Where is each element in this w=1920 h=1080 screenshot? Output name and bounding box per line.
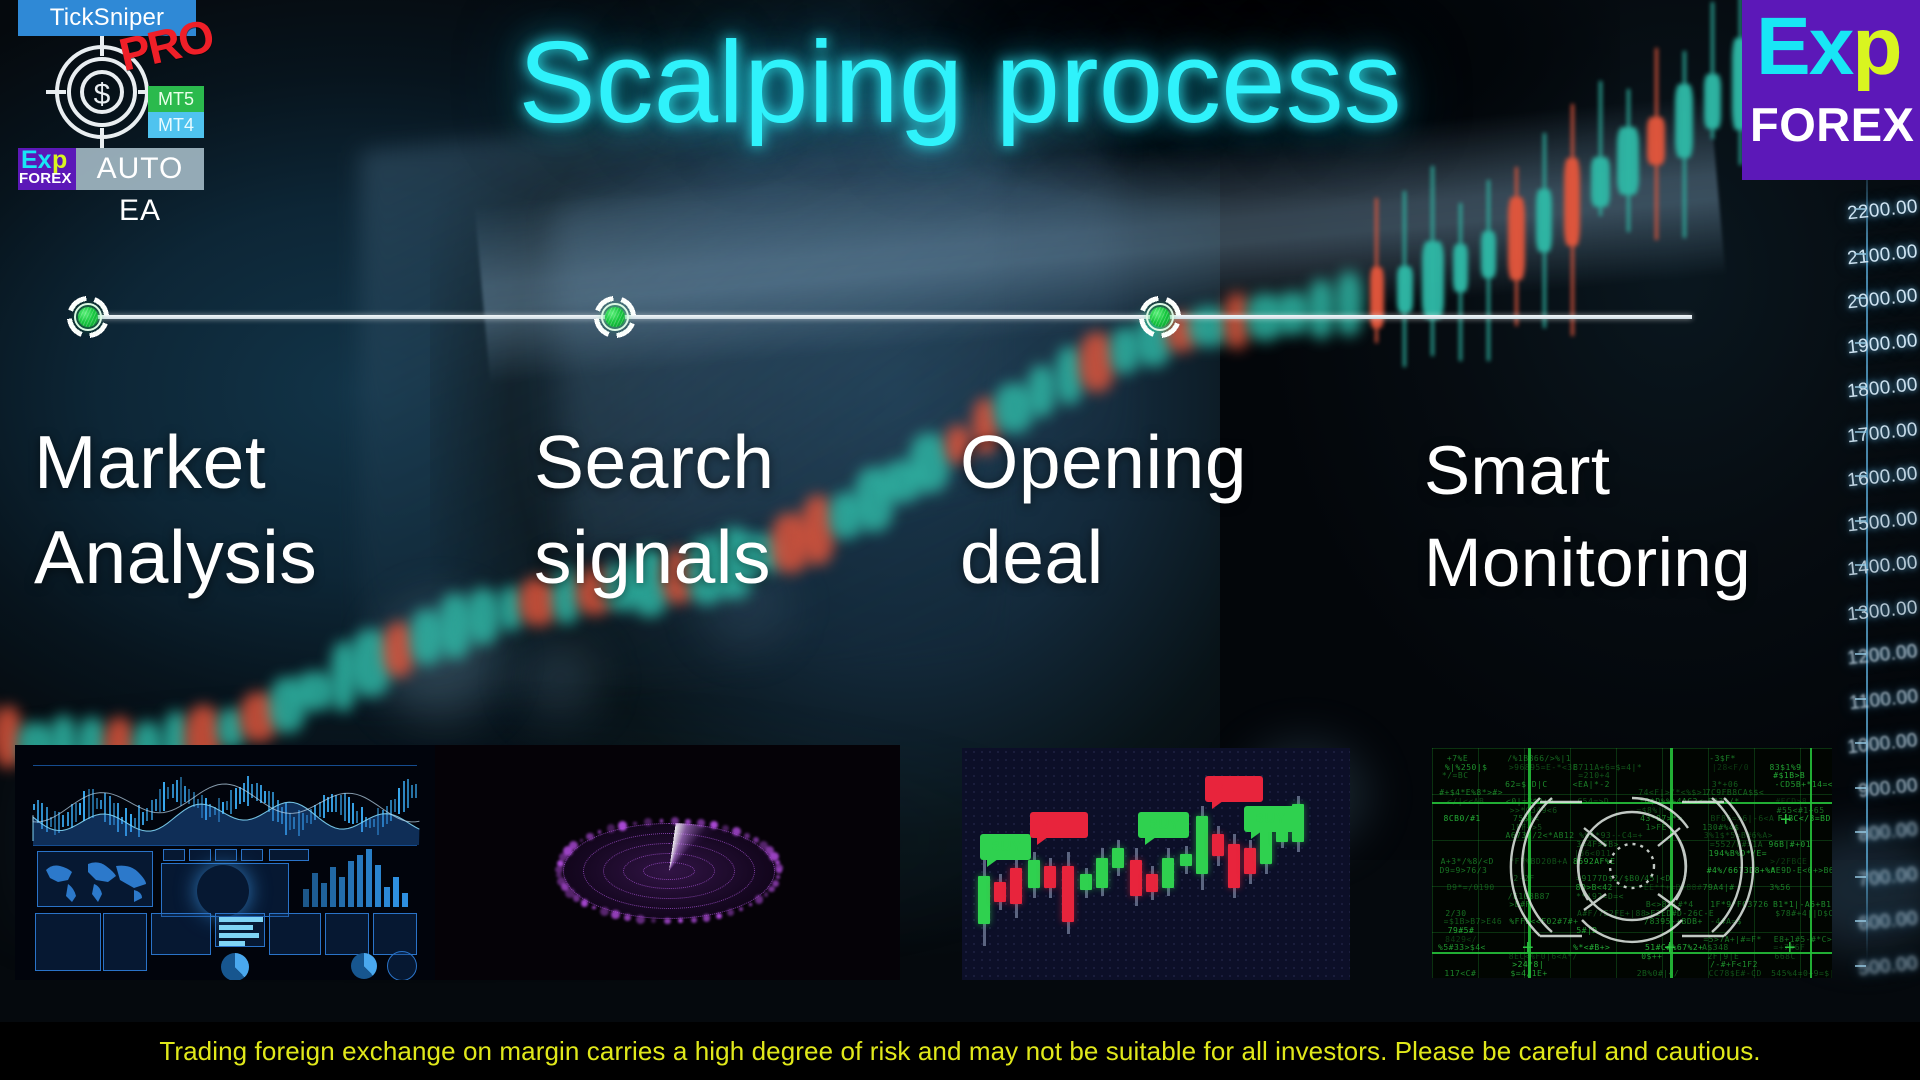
candle-body [1196,816,1208,874]
dashboard-bar [330,867,336,907]
radar-spike [776,875,780,879]
background-candle [466,588,500,646]
crosshair-plus-icon: + [1522,938,1534,958]
marker-dot [605,307,625,327]
dashboard-divider [33,845,417,846]
reticle-icon [1478,770,1786,960]
radar-spike [671,817,679,825]
svg-text:$: $ [94,78,111,111]
dashboard-world-map [37,851,153,907]
background-candle [1276,291,1311,335]
radar-spike [727,909,734,916]
candle-body [1112,848,1124,868]
matrix-code-line: */=BC [1442,771,1469,780]
price-axis-tick [1855,698,1866,700]
price-axis-tick [1855,742,1866,744]
candle-body [1130,860,1142,896]
price-axis-tick [1855,475,1866,477]
expforex-forex-text: FOREX [19,170,72,188]
monitoring-reticle-image: +7%E/%1B866/>%|1-3$F*%|%250|$>96895=E-*<… [1432,748,1832,978]
background-candle-wick [1487,180,1490,361]
risk-disclaimer: Trading foreign exchange on margin carri… [0,1022,1920,1080]
matrix-code-line: 545%4=0+9=$| [1771,969,1832,978]
radar-spike [611,910,620,919]
dashboard-bar [384,887,390,907]
radar-spike [722,825,729,832]
candle-body [1180,854,1192,866]
background-candle-wick [1431,166,1434,356]
crosshair-plus-icon: + [1784,938,1796,958]
candle-body [994,882,1006,902]
crosshair-plus-icon: + [1780,810,1792,830]
price-axis-tick [1855,609,1866,611]
dashboard-stat-box [163,849,185,861]
radar-spike [753,837,759,843]
matrix-code-line: $=4/1E+ [1510,969,1547,978]
signals-candlestick-image: BUYSELLBUYSELLBUY [962,748,1350,980]
price-axis-tick [1855,386,1866,388]
dashboard-bar [303,889,309,907]
radar-spike [755,895,763,903]
dashboard-progress-bar [219,925,253,930]
dashboard-bar [375,865,381,907]
matrix-code-line: 8CB0/#1 [1444,814,1481,823]
radar-spike [618,821,628,831]
price-axis-tick [1855,520,1866,522]
dashboard-bar [348,861,354,907]
buy-signal-tag: BUY [1244,806,1295,832]
expforex-ex-text: Ex [1756,1,1852,92]
dashboard-stat-box [269,849,309,861]
candle-body [1028,860,1040,888]
slide-root: 2200.002100.002000.001900.001800.001700.… [0,0,1920,1080]
price-axis-tick [1855,876,1866,878]
bokeh-blob [520,640,600,720]
radar-spike [691,917,697,923]
buy-signal-tag: BUY [1138,812,1189,838]
sell-signal-tag: SELL [1030,812,1088,838]
expforex-exp-text: Exp [1756,4,1900,90]
candle-body [1212,834,1224,856]
step-2-marker[interactable] [593,295,637,339]
background-candle [1307,279,1335,339]
candle-body [978,876,990,924]
dashboard-widget [151,913,211,955]
matrix-code-line: 117<C# [1444,969,1476,978]
step-smart-monitoring: Smart Monitoring [1424,425,1844,609]
radar-spike [651,918,656,923]
candle-body [1162,858,1174,888]
price-axis-tick [1855,965,1866,967]
price-axis-tick [1855,564,1866,566]
candle-body [1096,858,1108,888]
sell-signal-tag: SELL [1205,776,1263,802]
radar-spike [644,818,652,826]
dashboard-widget [35,913,101,971]
dashboard-pie-chart [221,953,249,980]
price-axis-tick [1855,208,1866,210]
radar-spike [624,914,631,921]
dashboard-widget [325,913,369,955]
radar-spike [685,819,691,825]
background-candle-wick [1543,133,1546,328]
price-axis-tick [1855,920,1866,922]
step-1-marker[interactable] [66,295,110,339]
radar-scan-image [435,745,900,980]
radar-sweep-beam [563,823,775,919]
radar-spike [764,892,768,896]
dashboard-stat-box [215,849,237,861]
mt5-badge: MT5 [148,86,204,112]
matrix-code-line: 2B%0#|</ [1637,969,1680,978]
radar-spike [716,913,722,919]
candle-body [1146,874,1158,892]
marker-dot [1150,307,1170,327]
expforex-logo[interactable]: Exp FOREX [1742,0,1920,180]
price-axis-tick [1855,431,1866,433]
step-opening-deal: Opening deal [960,415,1360,605]
radar-spike [633,822,636,825]
radar-spike [592,906,595,909]
dashboard-bar [357,855,363,907]
timeline-track [88,315,1692,319]
radar-spike [739,907,743,911]
price-axis-tick [1855,653,1866,655]
step-3-marker[interactable] [1138,295,1182,339]
background-candle-wick [1375,198,1378,343]
dashboard-bar [393,877,399,907]
dashboard-divider [33,765,417,766]
analytics-dashboard-image [15,745,435,980]
radar-spike [581,899,588,906]
expforex-p-text: p [1852,1,1900,92]
price-axis-tick [1855,787,1866,789]
dashboard-progress-bar [219,917,263,922]
radar-spike [703,914,710,921]
matrix-code-line: CC78$E#-CD [1709,969,1762,978]
radar-spike [664,918,671,925]
expforex-forex-text: FOREX [1750,98,1914,152]
buy-signal-tag: BUY [980,834,1031,860]
candle-body [1244,848,1256,874]
background-candle-wick [1403,191,1406,368]
dashboard-pie-chart [351,953,377,979]
radar-spike [678,918,683,923]
background-candle [1027,365,1055,418]
price-axis-tick [1855,831,1866,833]
dashboard-bar [339,877,345,907]
radar-spike [600,907,610,917]
radar-spike [744,833,750,839]
dashboard-trend-lines [15,745,435,845]
radar-spike [636,915,645,924]
dashboard-widget [373,913,417,955]
dashboard-bar [402,893,408,907]
radar-spike [607,824,615,832]
price-axis-tick [1855,253,1866,255]
dashboard-stat-box [241,849,263,861]
marker-dot [78,307,98,327]
mt4-badge: MT4 [148,112,204,138]
candle-body [1080,874,1092,890]
candle-body [1010,868,1022,904]
crosshair-plus-icon: + [1664,938,1676,958]
page-title: Scalping process [0,22,1920,142]
dashboard-bar [366,849,372,907]
candle-body [1062,866,1074,922]
chart-dot-grid [962,748,1350,980]
background-candle-wick [1459,203,1462,361]
radar-spike [660,819,663,822]
dashboard-stat-box [189,849,211,861]
radar-spike [768,886,774,892]
step-market-analysis: Market Analysis [34,415,434,605]
background-candle-wick [1515,167,1518,327]
candle-body [1044,866,1056,888]
price-axis-tick [1855,297,1866,299]
dashboard-globe [197,865,249,917]
radar-spike [557,877,566,886]
auto-ea-badge: AUTO EA [76,148,204,190]
dashboard-progress-bar [219,941,245,946]
radar-spike [749,903,752,906]
expforex-small-logo[interactable]: Ex p FOREX [18,148,76,190]
dashboard-gauge [387,951,417,980]
dashboard-bar [312,873,318,907]
dashboard-widget [103,913,147,971]
candle-body [1228,844,1240,888]
dashboard-bar [321,883,327,907]
dashboard-progress-bar [219,933,259,938]
background-candle [1335,271,1363,336]
ticksniper-logo[interactable]: TickSniper $ PRO MT5 MT4 AUTO EA Ex p FO… [18,0,196,190]
step-search-signals: Search signals [534,415,874,605]
dashboard-widget [269,913,321,955]
price-axis-tick [1855,342,1866,344]
radar-spike [586,833,593,840]
